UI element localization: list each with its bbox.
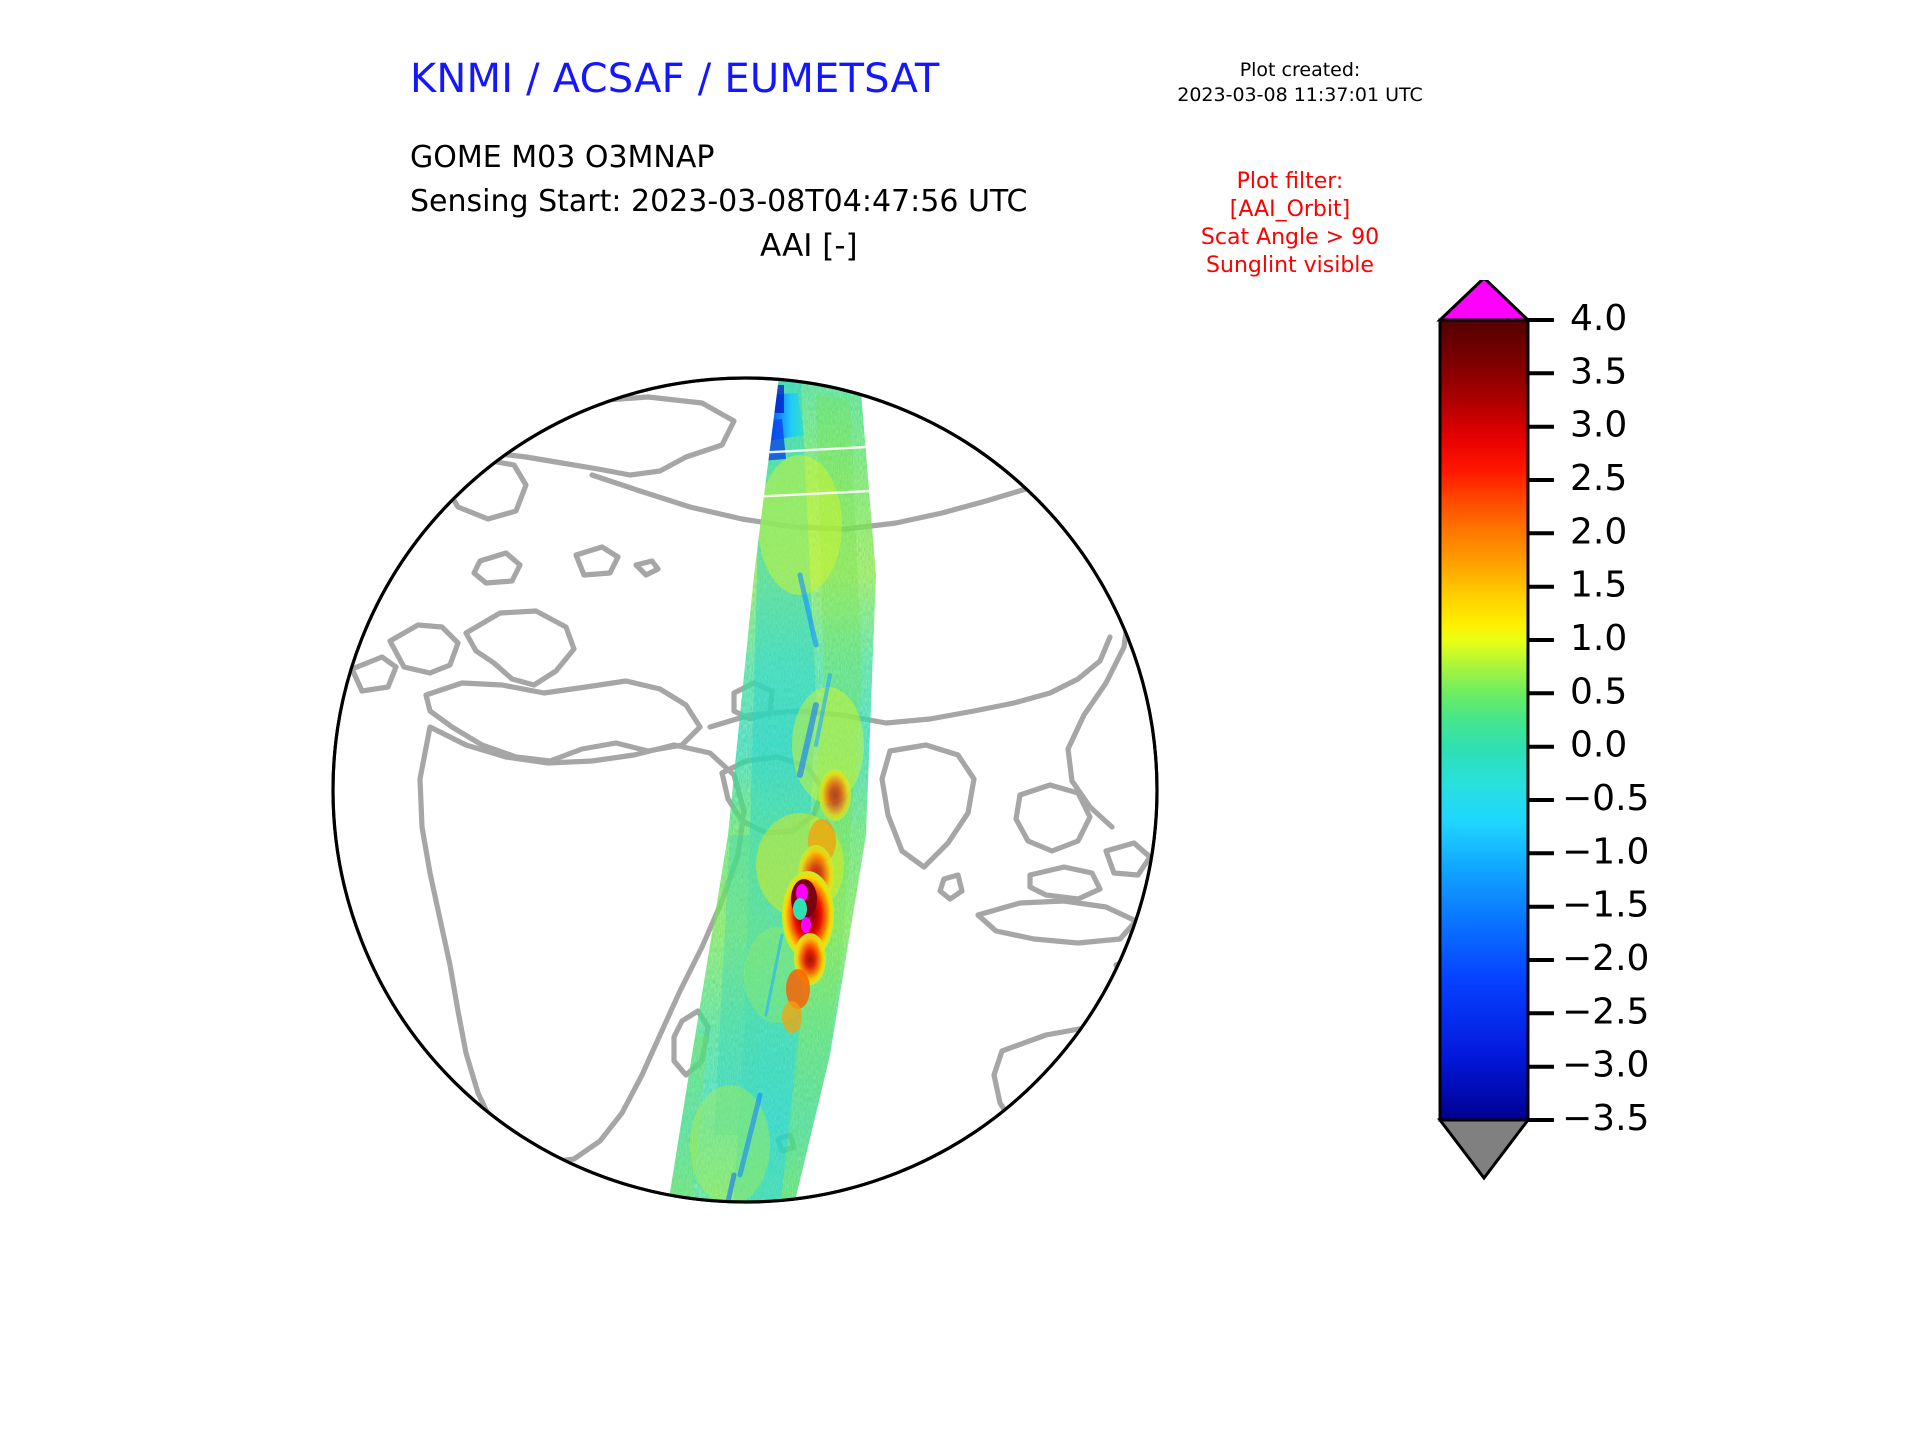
coastline-antarctica (576, 1227, 1022, 1305)
colorbar-gradient (1440, 320, 1528, 1120)
colorbar-tick-label: 1.5 (1570, 565, 1627, 606)
colorbar-tick-label: −2.0 (1562, 938, 1649, 979)
colorbar-tick-label: 0.5 (1570, 671, 1627, 712)
colorbar-tick-label: −3.0 (1562, 1045, 1649, 1086)
colorbar-tick-label: −1.5 (1562, 885, 1649, 926)
southern-negative-pixels (636, 1279, 720, 1315)
colorbar-tick-label: 0.0 (1570, 725, 1627, 766)
plot-filter-line-1: [AAI_Orbit] (1140, 196, 1440, 224)
plot-canvas: KNMI / ACSAF / EUMETSAT Plot created: 20… (0, 0, 1920, 1440)
colorbar-ticks (1528, 320, 1554, 1120)
colorbar-over-arrow (1440, 280, 1528, 320)
colorbar-tick-labels: 4.0 3.5 3.0 2.5 2.0 1.5 1.0 0.5 0.0 −0.5… (1562, 298, 1649, 1139)
plot-filter-block: Plot filter: [AAI_Orbit] Scat Angle > 90… (1140, 168, 1440, 280)
colorbar-tick-label: 2.0 (1570, 511, 1627, 552)
colorbar-svg: 4.0 3.5 3.0 2.5 2.0 1.5 1.0 0.5 0.0 −0.5… (1420, 280, 1840, 1340)
plot-filter-line-2: Scat Angle > 90 (1140, 224, 1440, 252)
sensing-start: Sensing Start: 2023-03-08T04:47:56 UTC (410, 180, 1027, 224)
colorbar-tick-label: 4.0 (1570, 298, 1627, 339)
colorbar-tick-label: 3.0 (1570, 405, 1627, 446)
coastline-new-guinea (1116, 953, 1170, 983)
globe-svg (330, 275, 1170, 1315)
colorbar-tick-label: 3.5 (1570, 351, 1627, 392)
coastline-south-america-limb (580, 1171, 606, 1299)
variable-title: AAI [-] (760, 228, 858, 264)
globe-map (330, 275, 1170, 1315)
colorbar-tick-label: 2.5 (1570, 458, 1627, 499)
colorbar-tick-label: −3.5 (1562, 1098, 1649, 1139)
colorbar-tick-label: −1.0 (1562, 831, 1649, 872)
plot-filter-line-3: Sunglint visible (1140, 252, 1440, 280)
colorbar-tick-label: 1.0 (1570, 618, 1627, 659)
swath-detached-north-strip (792, 315, 910, 345)
product-name: GOME M03 O3MNAP (410, 136, 1027, 180)
coastline-tasmania (1116, 1165, 1140, 1185)
colorbar-tick-label: −0.5 (1562, 778, 1649, 819)
plot-filter-title: Plot filter: (1140, 168, 1440, 196)
colorbar-under-arrow (1440, 1120, 1528, 1178)
colorbar-tick-label: −2.5 (1562, 991, 1649, 1032)
colorbar: 4.0 3.5 3.0 2.5 2.0 1.5 1.0 0.5 0.0 −0.5… (1420, 280, 1840, 1340)
organisation-title: KNMI / ACSAF / EUMETSAT (410, 56, 940, 102)
product-info-block: GOME M03 O3MNAP Sensing Start: 2023-03-0… (410, 136, 1027, 224)
plot-created-timestamp: 2023-03-08 11:37:01 UTC (1160, 83, 1440, 108)
plot-created-label: Plot created: (1160, 58, 1440, 83)
coastline-antarctica-lower (556, 1291, 730, 1315)
plot-created-block: Plot created: 2023-03-08 11:37:01 UTC (1160, 58, 1440, 108)
